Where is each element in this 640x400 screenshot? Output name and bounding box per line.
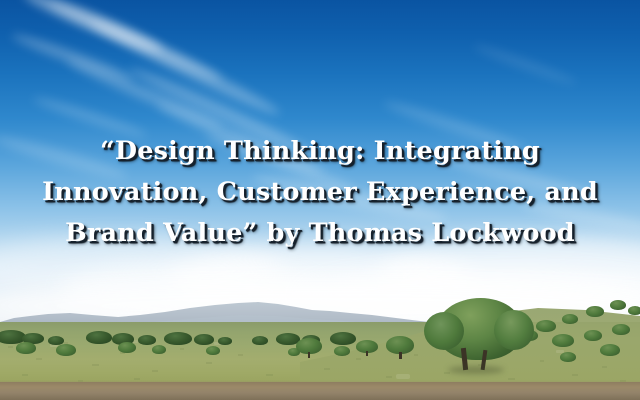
tree <box>118 342 136 353</box>
tree <box>536 320 556 332</box>
tree <box>560 352 576 362</box>
tree <box>252 336 268 345</box>
title-line-3: Brand Value” by Thomas Lockwood <box>0 213 640 254</box>
hero-tree-shadow <box>448 366 504 374</box>
tree <box>586 306 604 317</box>
tree <box>562 314 578 324</box>
tree <box>86 331 112 344</box>
cirrus-cloud <box>472 41 578 87</box>
title-card-image: “Design Thinking: Integrating Innovation… <box>0 0 640 400</box>
tree <box>56 344 76 356</box>
tree <box>628 306 640 315</box>
title-line-2: Innovation, Customer Experience, and <box>0 172 640 213</box>
tree <box>610 300 626 310</box>
tree <box>16 342 36 354</box>
tree <box>218 337 232 345</box>
tree <box>334 346 350 356</box>
tree <box>152 345 166 354</box>
tree <box>194 334 214 345</box>
tree <box>612 324 630 335</box>
tree <box>552 334 574 347</box>
tree <box>164 332 192 345</box>
page-title: “Design Thinking: Integrating Innovation… <box>0 131 640 254</box>
tree <box>600 344 620 356</box>
tree-trunk <box>308 352 310 358</box>
hero-tree-left-lobe <box>424 312 464 350</box>
tree-trunk <box>399 352 402 359</box>
hero-tree-right-lobe <box>494 310 534 350</box>
tree <box>138 335 156 345</box>
dirt-path <box>0 382 640 400</box>
title-line-1: “Design Thinking: Integrating <box>0 131 640 172</box>
tree <box>206 346 220 355</box>
tree <box>584 330 602 341</box>
tree <box>330 332 356 345</box>
tree-trunk <box>366 351 368 356</box>
